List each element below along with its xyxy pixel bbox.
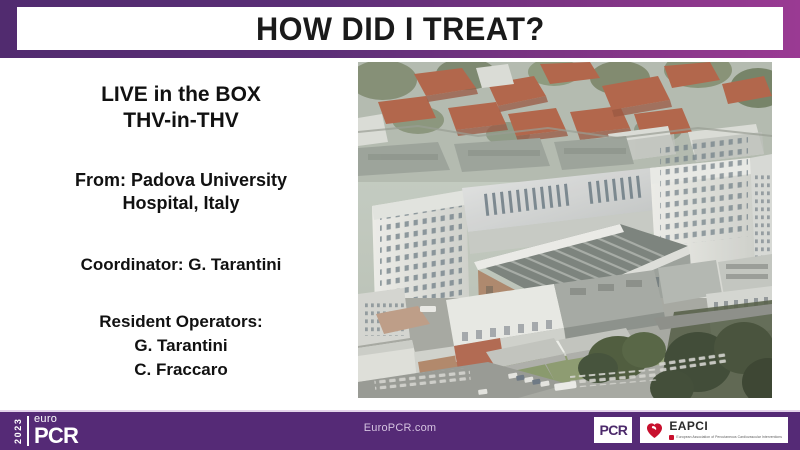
institution-block: From: Padova University Hospital, Italy xyxy=(16,169,346,216)
coordinator-label: Coordinator: G. Tarantini xyxy=(16,254,346,276)
resident-operator-1: G. Tarantini xyxy=(16,334,346,358)
coordinator-block: Coordinator: G. Tarantini xyxy=(16,254,346,276)
heart-icon xyxy=(645,421,664,440)
eapci-subtitle: European Association of Percutaneous Car… xyxy=(676,436,782,439)
hospital-photo xyxy=(358,62,772,398)
eapci-logo-badge: EAPCI European Association of Percutaneo… xyxy=(640,417,788,443)
institution-line-1: From: Padova University xyxy=(16,169,346,192)
pcr-logo-badge: PCR xyxy=(594,417,632,443)
resident-operators-heading: Resident Operators: xyxy=(16,310,346,334)
header-band: HOW DID I TREAT? xyxy=(0,0,800,58)
session-title-line-1: LIVE in the BOX xyxy=(16,82,346,108)
eapci-name: EAPCI xyxy=(669,420,782,432)
slide-root: HOW DID I TREAT? LIVE in the BOX THV-in-… xyxy=(0,0,800,450)
eapci-sub-marker xyxy=(669,435,674,440)
resident-operator-2: C. Fraccaro xyxy=(16,358,346,382)
institution-line-2: Hospital, Italy xyxy=(16,192,346,215)
session-title: LIVE in the BOX THV-in-THV xyxy=(16,82,346,135)
session-title-line-2: THV-in-THV xyxy=(16,108,346,134)
hospital-photo-image xyxy=(358,62,772,398)
eapci-text-block: EAPCI European Association of Percutaneo… xyxy=(669,420,782,439)
eapci-sub-row: European Association of Percutaneous Car… xyxy=(669,434,782,439)
resident-operators-block: Resident Operators: G. Tarantini C. Frac… xyxy=(16,310,346,382)
footer-divider xyxy=(0,410,800,412)
header-title-box: HOW DID I TREAT? xyxy=(17,7,783,50)
footer-logos: PCR EAPCI European Association of Percut… xyxy=(594,415,788,445)
page-title: HOW DID I TREAT? xyxy=(256,13,545,45)
session-info-column: LIVE in the BOX THV-in-THV From: Padova … xyxy=(16,66,346,402)
